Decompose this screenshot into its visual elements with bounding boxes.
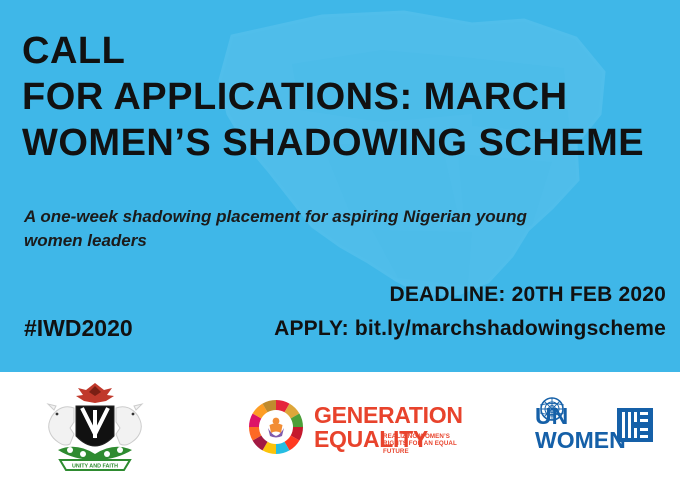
poster-image: CALL FOR APPLICATIONS: MARCH WOMEN’S SHA… — [0, 0, 680, 481]
un-women-logo: UN WOMEN — [527, 392, 655, 458]
un-women-line-1: UN — [535, 404, 626, 428]
hashtag-text: #IWD2020 — [24, 315, 133, 342]
generation-equality-logo: GENERATION EQUALITY REALIZING WOMEN’S RI… — [245, 390, 460, 464]
headline-line-1: CALL — [22, 28, 642, 74]
headline: CALL FOR APPLICATIONS: MARCH WOMEN’S SHA… — [22, 28, 642, 166]
svg-text:UNITY AND FAITH: UNITY AND FAITH — [72, 464, 118, 470]
blue-background-panel: CALL FOR APPLICATIONS: MARCH WOMEN’S SHA… — [0, 0, 680, 372]
sdg-wheel-icon — [245, 396, 307, 458]
deadline-text: DEADLINE: 20TH FEB 2020 — [389, 283, 666, 307]
headline-line-2: FOR APPLICATIONS: MARCH — [22, 74, 642, 120]
generation-equality-tagline: REALIZING WOMEN’S RIGHTS FOR AN EQUAL FU… — [383, 433, 461, 455]
nigeria-coat-of-arms-icon: UNITY AND FAITH — [36, 380, 154, 476]
un-women-wordmark: UN WOMEN — [535, 404, 626, 452]
logo-footer-bar: UNITY AND FAITH — [0, 372, 680, 481]
generation-equality-line-1: GENERATION — [314, 403, 463, 427]
un-women-line-2: WOMEN — [535, 428, 626, 452]
headline-line-3: WOMEN’S SHADOWING SCHEME — [22, 120, 642, 166]
apply-link-text: APPLY: bit.ly/marchshadowingscheme — [274, 317, 666, 341]
un-women-symbol-icon — [615, 406, 655, 444]
subheading-text: A one-week shadowing placement for aspir… — [24, 205, 544, 253]
